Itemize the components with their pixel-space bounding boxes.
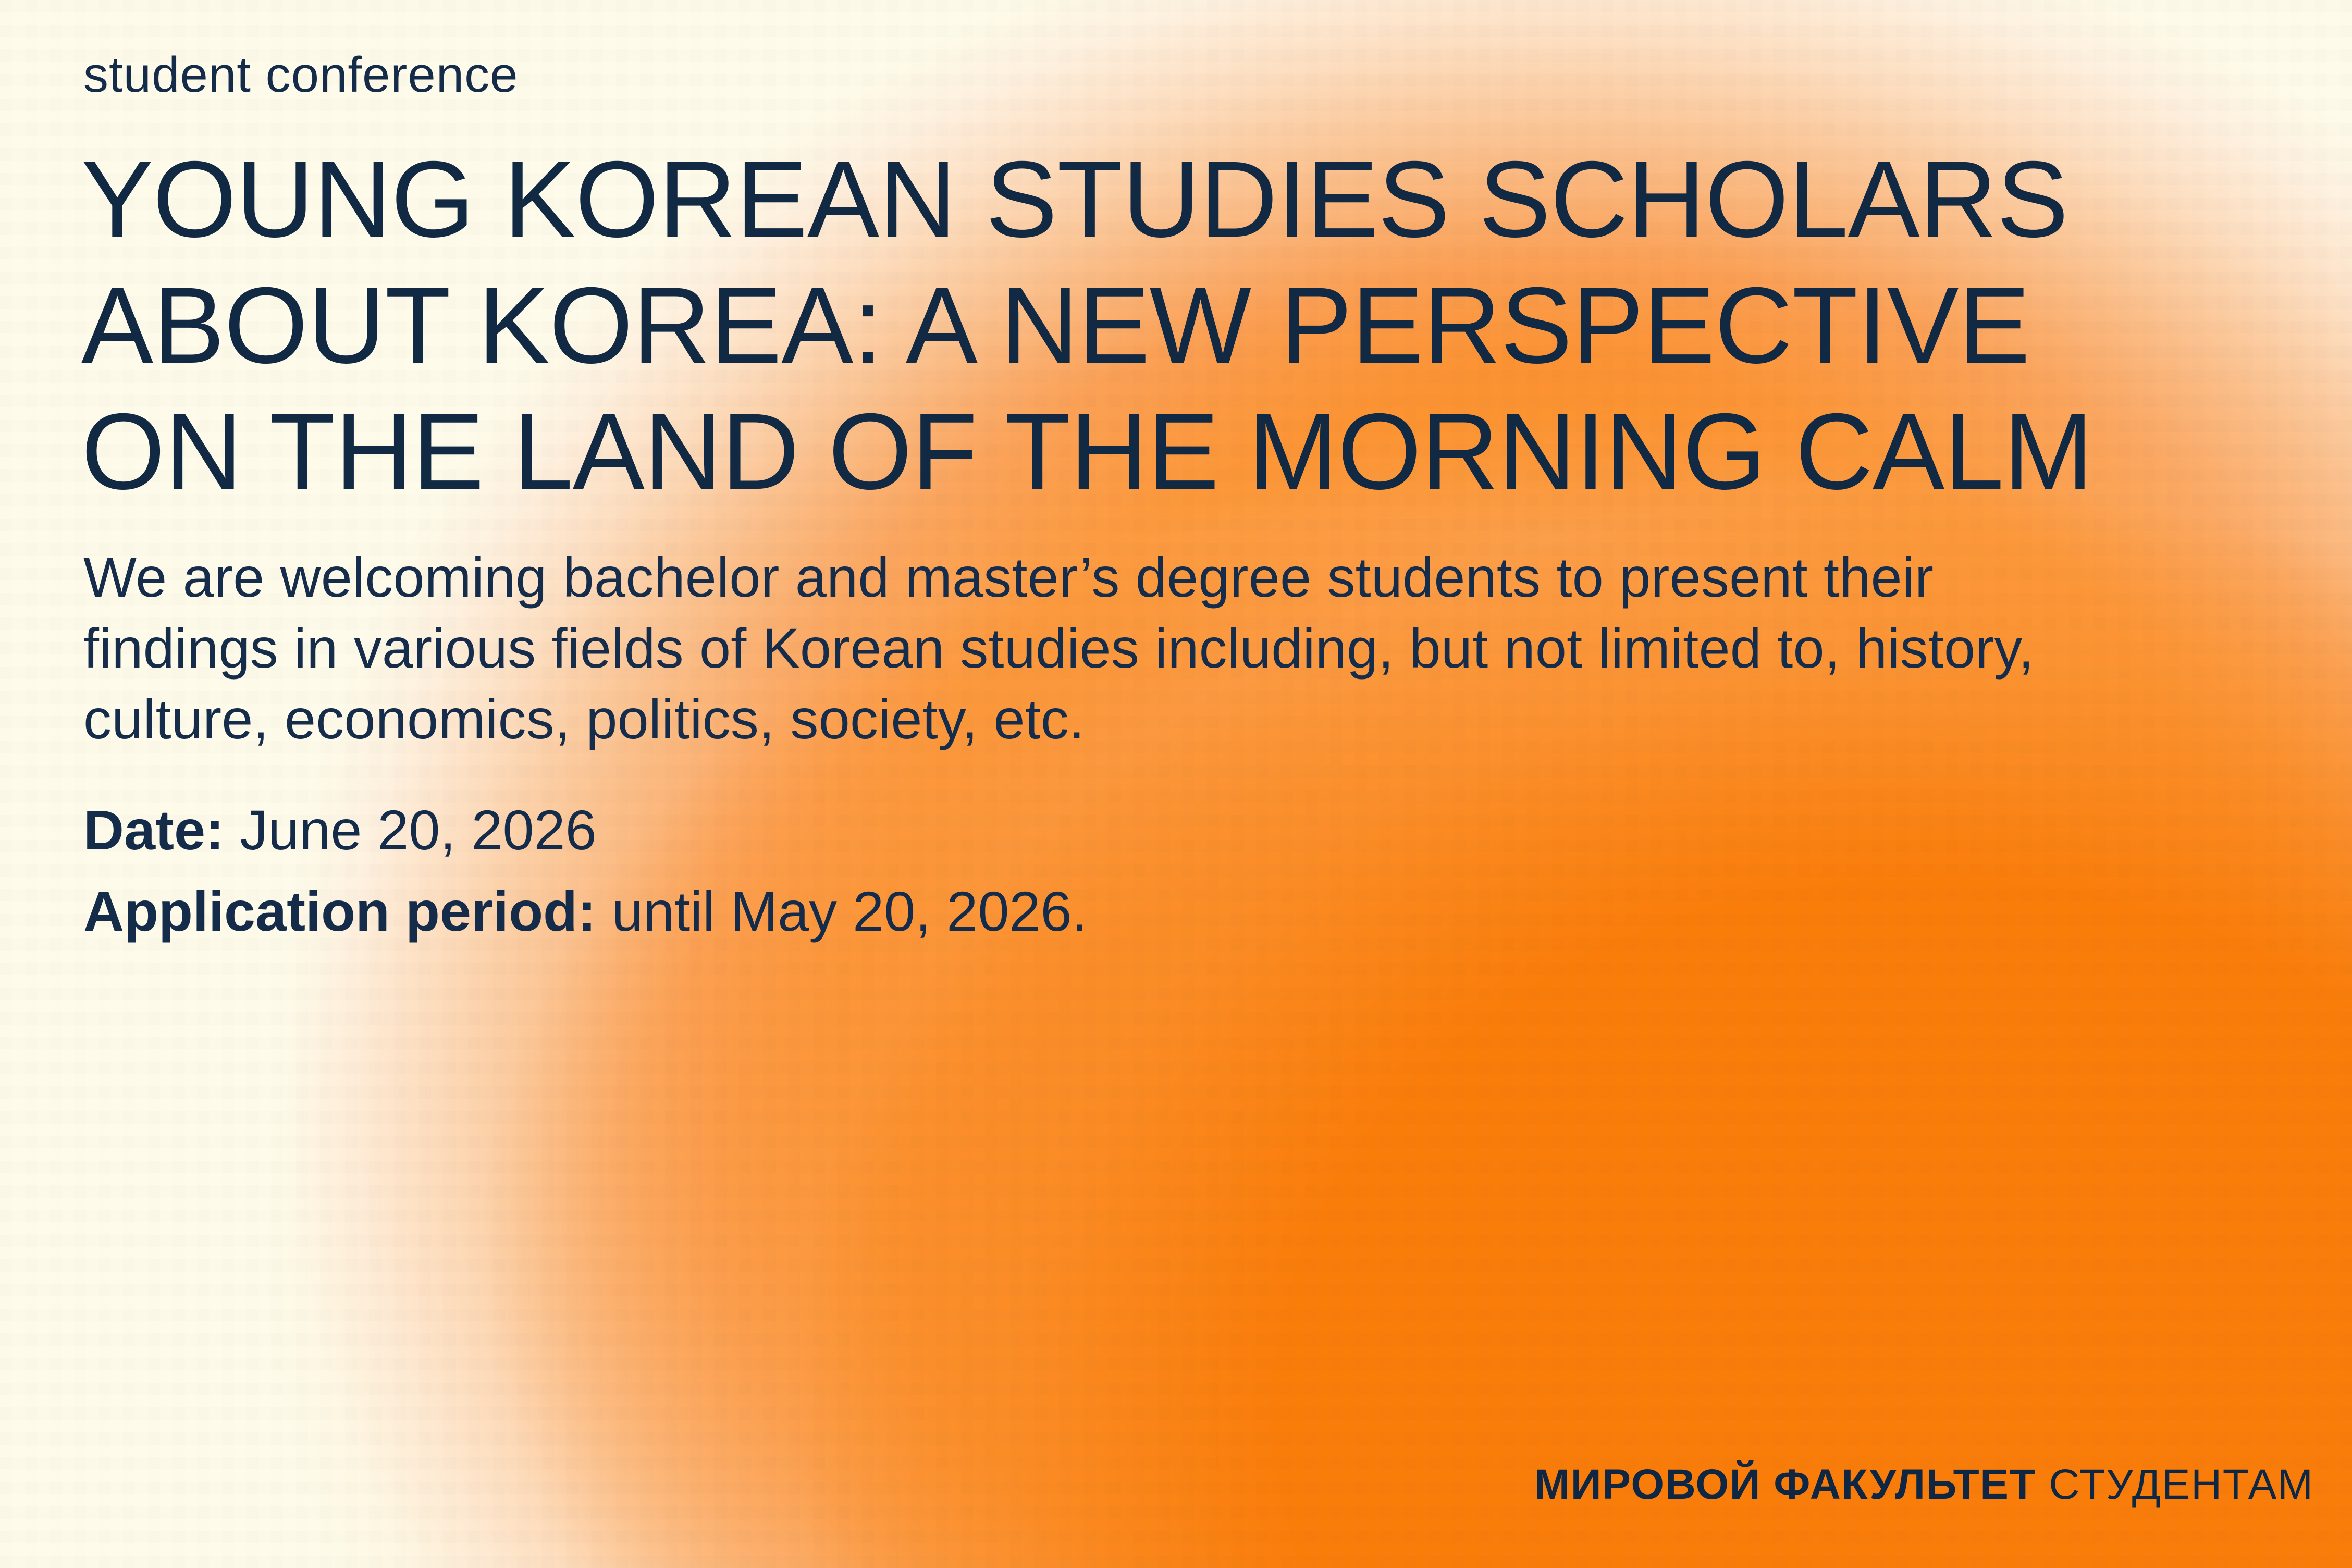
page-title-line-2: ABOUT KOREA: A NEW PERSPECTIVE (81, 263, 2270, 389)
footer-brand-audience: СТУДЕНТАМ (2036, 1461, 2314, 1508)
page-title-line-1: YOUNG KOREAN STUDIES SCHOLARS (81, 137, 2270, 263)
footer-brand-name: МИРОВОЙ ФАКУЛЬТЕТ (1534, 1461, 2036, 1508)
description-line-1: We are welcoming bachelor and master’s d… (83, 542, 2147, 613)
poster-content: student conference YOUNG KOREAN STUDIES … (0, 0, 2352, 1568)
event-date-value: June 20, 2026 (224, 798, 597, 861)
application-period-value: until May 20, 2026. (596, 880, 1088, 943)
event-date-row: Date: June 20, 2026 (83, 789, 1088, 871)
description-line-2: findings in various fields of Korean stu… (83, 613, 2147, 684)
page-title: YOUNG KOREAN STUDIES SCHOLARS ABOUT KORE… (81, 137, 2270, 515)
event-details: Date: June 20, 2026 Application period: … (83, 789, 1088, 952)
application-period-row: Application period: until May 20, 2026. (83, 871, 1088, 952)
poster-canvas: student conference YOUNG KOREAN STUDIES … (0, 0, 2352, 1568)
event-date-label: Date: (83, 798, 224, 861)
application-period-label: Application period: (83, 880, 596, 943)
description-paragraph: We are welcoming bachelor and master’s d… (83, 542, 2147, 755)
page-title-line-3: ON THE LAND OF THE MORNING CALM (81, 389, 2270, 515)
eyebrow-label: student conference (83, 50, 519, 100)
footer-brand-lockup: МИРОВОЙ ФАКУЛЬТЕТ СТУДЕНТАМ (1534, 1463, 2314, 1506)
description-line-3: culture, economics, politics, society, e… (83, 684, 2147, 755)
